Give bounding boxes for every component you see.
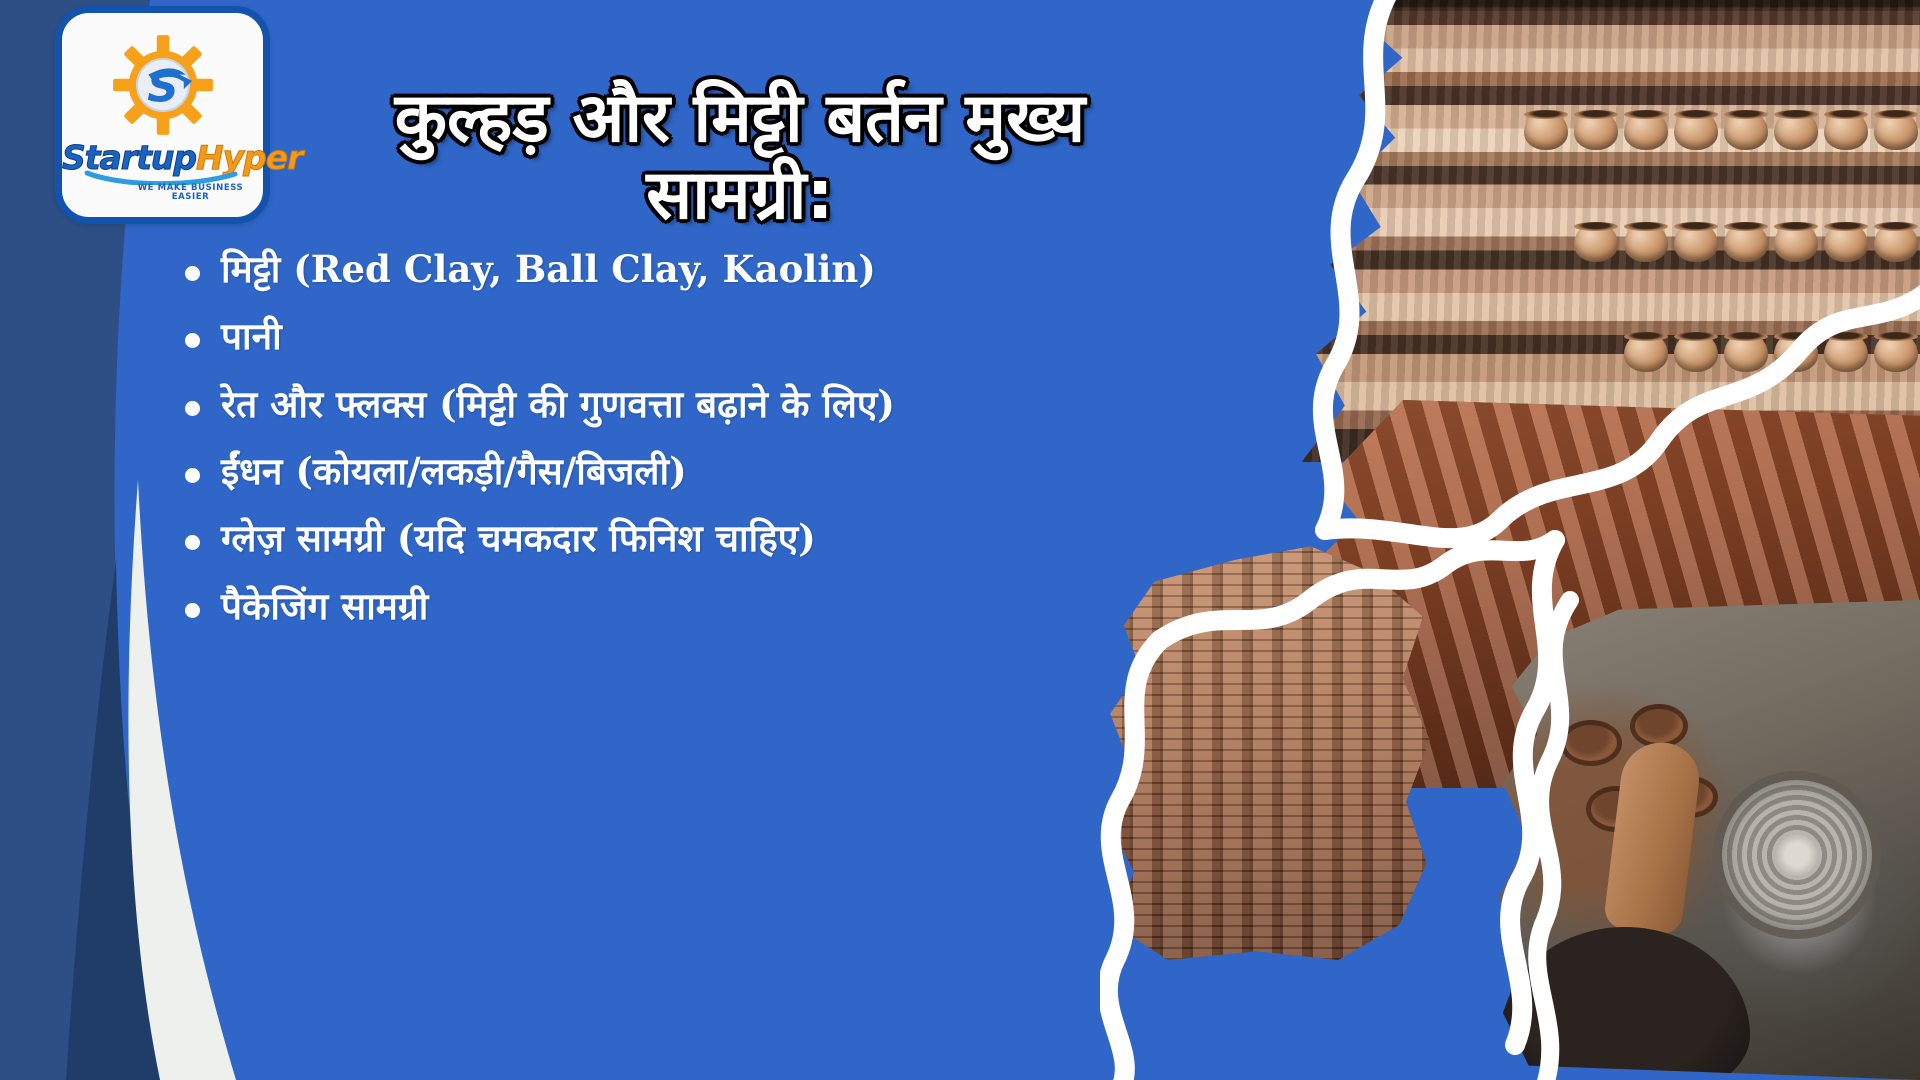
list-item: पानी — [175, 313, 1175, 360]
potters-wheel — [1722, 780, 1872, 930]
title-line-1: कुल्हड़ और मिट्टी बर्तन मुख्य — [395, 79, 1085, 158]
list-item: पैकेजिंग सामग्री — [175, 583, 1175, 630]
list-item-label: ईंधन (कोयला/लकड़ी/गैस/बिजली) — [221, 449, 687, 493]
logo-word-hyper: Hyper — [196, 138, 302, 177]
gear-icon: S — [111, 33, 215, 137]
edge-navy-dark-shape — [66, 560, 175, 1080]
logo-tagline: WE MAKE BUSINESS EASIER — [62, 184, 263, 201]
materials-list: मिट्टी (Red Clay, Ball Clay, Kaolin) पान… — [175, 246, 1175, 650]
logo-word-startup: Startup — [62, 138, 196, 177]
page-title: कुल्हड़ और मिट्टी बर्तन मुख्य सामग्री: — [300, 80, 1180, 235]
list-item-label: पानी — [221, 314, 282, 358]
list-item-label: रेत और फ्लक्स (मिट्टी की गुणवत्ता बढ़ाने… — [221, 382, 895, 426]
list-item: मिट्टी (Red Clay, Ball Clay, Kaolin) — [175, 246, 1175, 293]
title-line-2: सामग्री: — [646, 156, 833, 235]
list-item: ग्लेज़ सामग्री (यदि चमकदार फिनिश चाहिए) — [175, 515, 1175, 562]
list-item: रेत और फ्लक्स (मिट्टी की गुणवत्ता बढ़ाने… — [175, 381, 1175, 428]
potter-at-wheel-photo — [1490, 600, 1920, 1080]
slide-canvas: S StartupHyper WE MAKE BUSINESS EASIER क… — [0, 0, 1920, 1080]
logo-wordmark: StartupHyper WE MAKE BUSINESS EASIER — [62, 141, 263, 201]
photo-collage — [1100, 0, 1920, 1080]
pottery-drying-shelves-photo — [1208, 0, 1920, 462]
list-item-label: ग्लेज़ सामग्री (यदि चमकदार फिनिश चाहिए) — [221, 516, 816, 560]
list-item-label: पैकेजिंग सामग्री — [221, 584, 428, 628]
brand-logo-card[interactable]: S StartupHyper WE MAKE BUSINESS EASIER — [55, 6, 270, 224]
list-item-label: मिट्टी (Red Clay, Ball Clay, Kaolin) — [221, 247, 876, 291]
list-item: ईंधन (कोयला/लकड़ी/गैस/बिजली) — [175, 448, 1175, 495]
